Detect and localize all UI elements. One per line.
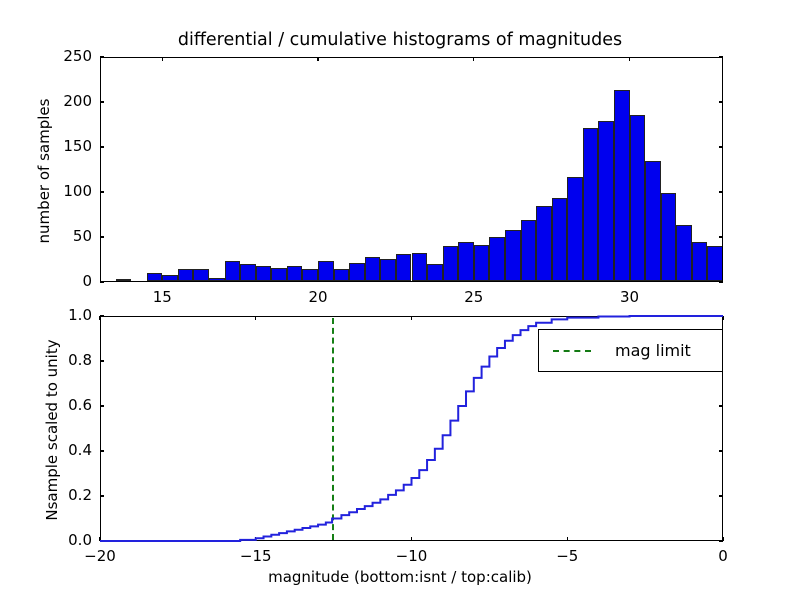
y-tick-label: 200: [42, 92, 92, 110]
histogram-bar: [645, 161, 661, 281]
x-tick-label: −20: [65, 547, 135, 565]
x-tick-label: 0: [688, 547, 758, 565]
y-tick-label: 1.0: [42, 306, 92, 324]
y-tick-mark: [100, 281, 104, 282]
histogram-bar: [427, 264, 443, 281]
histogram-bar: [474, 245, 490, 281]
y-tick-label: 250: [42, 47, 92, 65]
legend-dash-icon: [553, 350, 591, 352]
histogram-bar: [240, 264, 256, 281]
histogram-bar: [458, 242, 474, 282]
histogram-bar: [365, 257, 381, 281]
histogram-bar: [116, 279, 132, 281]
x-axis-label: magnitude (bottom:isnt / top:calib): [0, 568, 800, 586]
x-tick-label: 25: [444, 288, 504, 306]
histogram-bar: [349, 263, 365, 281]
histogram-bar: [692, 242, 708, 282]
histogram-bar: [287, 266, 303, 281]
x-tick-label: 15: [132, 288, 192, 306]
x-tick-label: 30: [600, 288, 660, 306]
y-tick-label: 0.4: [42, 441, 92, 459]
x-tick-label: −15: [221, 547, 291, 565]
histogram-bar: [396, 254, 412, 281]
histogram-bar: [707, 246, 722, 281]
x-tick-label: −5: [532, 547, 602, 565]
histogram-bar: [598, 121, 614, 281]
histogram-bar: [567, 177, 583, 281]
histogram-bar: [380, 259, 396, 281]
y-tick-label: 150: [42, 137, 92, 155]
histogram-bar: [271, 268, 287, 281]
figure-canvas: differential / cumulative histograms of …: [0, 0, 800, 600]
histogram-bar: [225, 261, 241, 281]
histogram-bar: [489, 237, 505, 281]
histogram-bar: [318, 261, 334, 281]
histogram-bar: [334, 269, 350, 281]
y-tick-label: 100: [42, 182, 92, 200]
histogram-bar: [302, 269, 318, 281]
legend-label: mag limit: [615, 341, 691, 360]
histogram-bar: [443, 246, 459, 281]
bottom-panel-ylabel: Nsample scaled to unity: [43, 315, 61, 545]
histogram-bar: [614, 90, 630, 281]
histogram-bar: [552, 198, 568, 281]
y-tick-mark-right: [719, 281, 723, 282]
y-tick-label: 0: [42, 272, 92, 290]
histogram-bar: [661, 193, 677, 281]
histogram-bar: [193, 269, 209, 282]
y-tick-label: 0.2: [42, 486, 92, 504]
histogram-bar: [536, 206, 552, 282]
histogram-bar: [178, 269, 194, 282]
histogram-bar: [162, 275, 178, 281]
legend: mag limit: [538, 329, 723, 372]
histogram-bar: [209, 278, 225, 281]
histogram-bar: [676, 225, 692, 281]
page-title: differential / cumulative histograms of …: [0, 30, 800, 50]
x-tick-label: 20: [288, 288, 348, 306]
histogram-bar: [521, 220, 537, 281]
x-tick-label: −10: [377, 547, 447, 565]
histogram-bar: [256, 266, 272, 281]
y-tick-label: 50: [42, 227, 92, 245]
y-tick-label: 0.6: [42, 396, 92, 414]
histogram-bar: [505, 230, 521, 281]
y-tick-label: 0.8: [42, 351, 92, 369]
histogram-bar: [147, 273, 163, 281]
histogram-bar: [412, 253, 428, 281]
histogram-bars: [101, 58, 722, 281]
histogram-bar: [583, 128, 599, 281]
histogram-bar: [630, 115, 646, 281]
